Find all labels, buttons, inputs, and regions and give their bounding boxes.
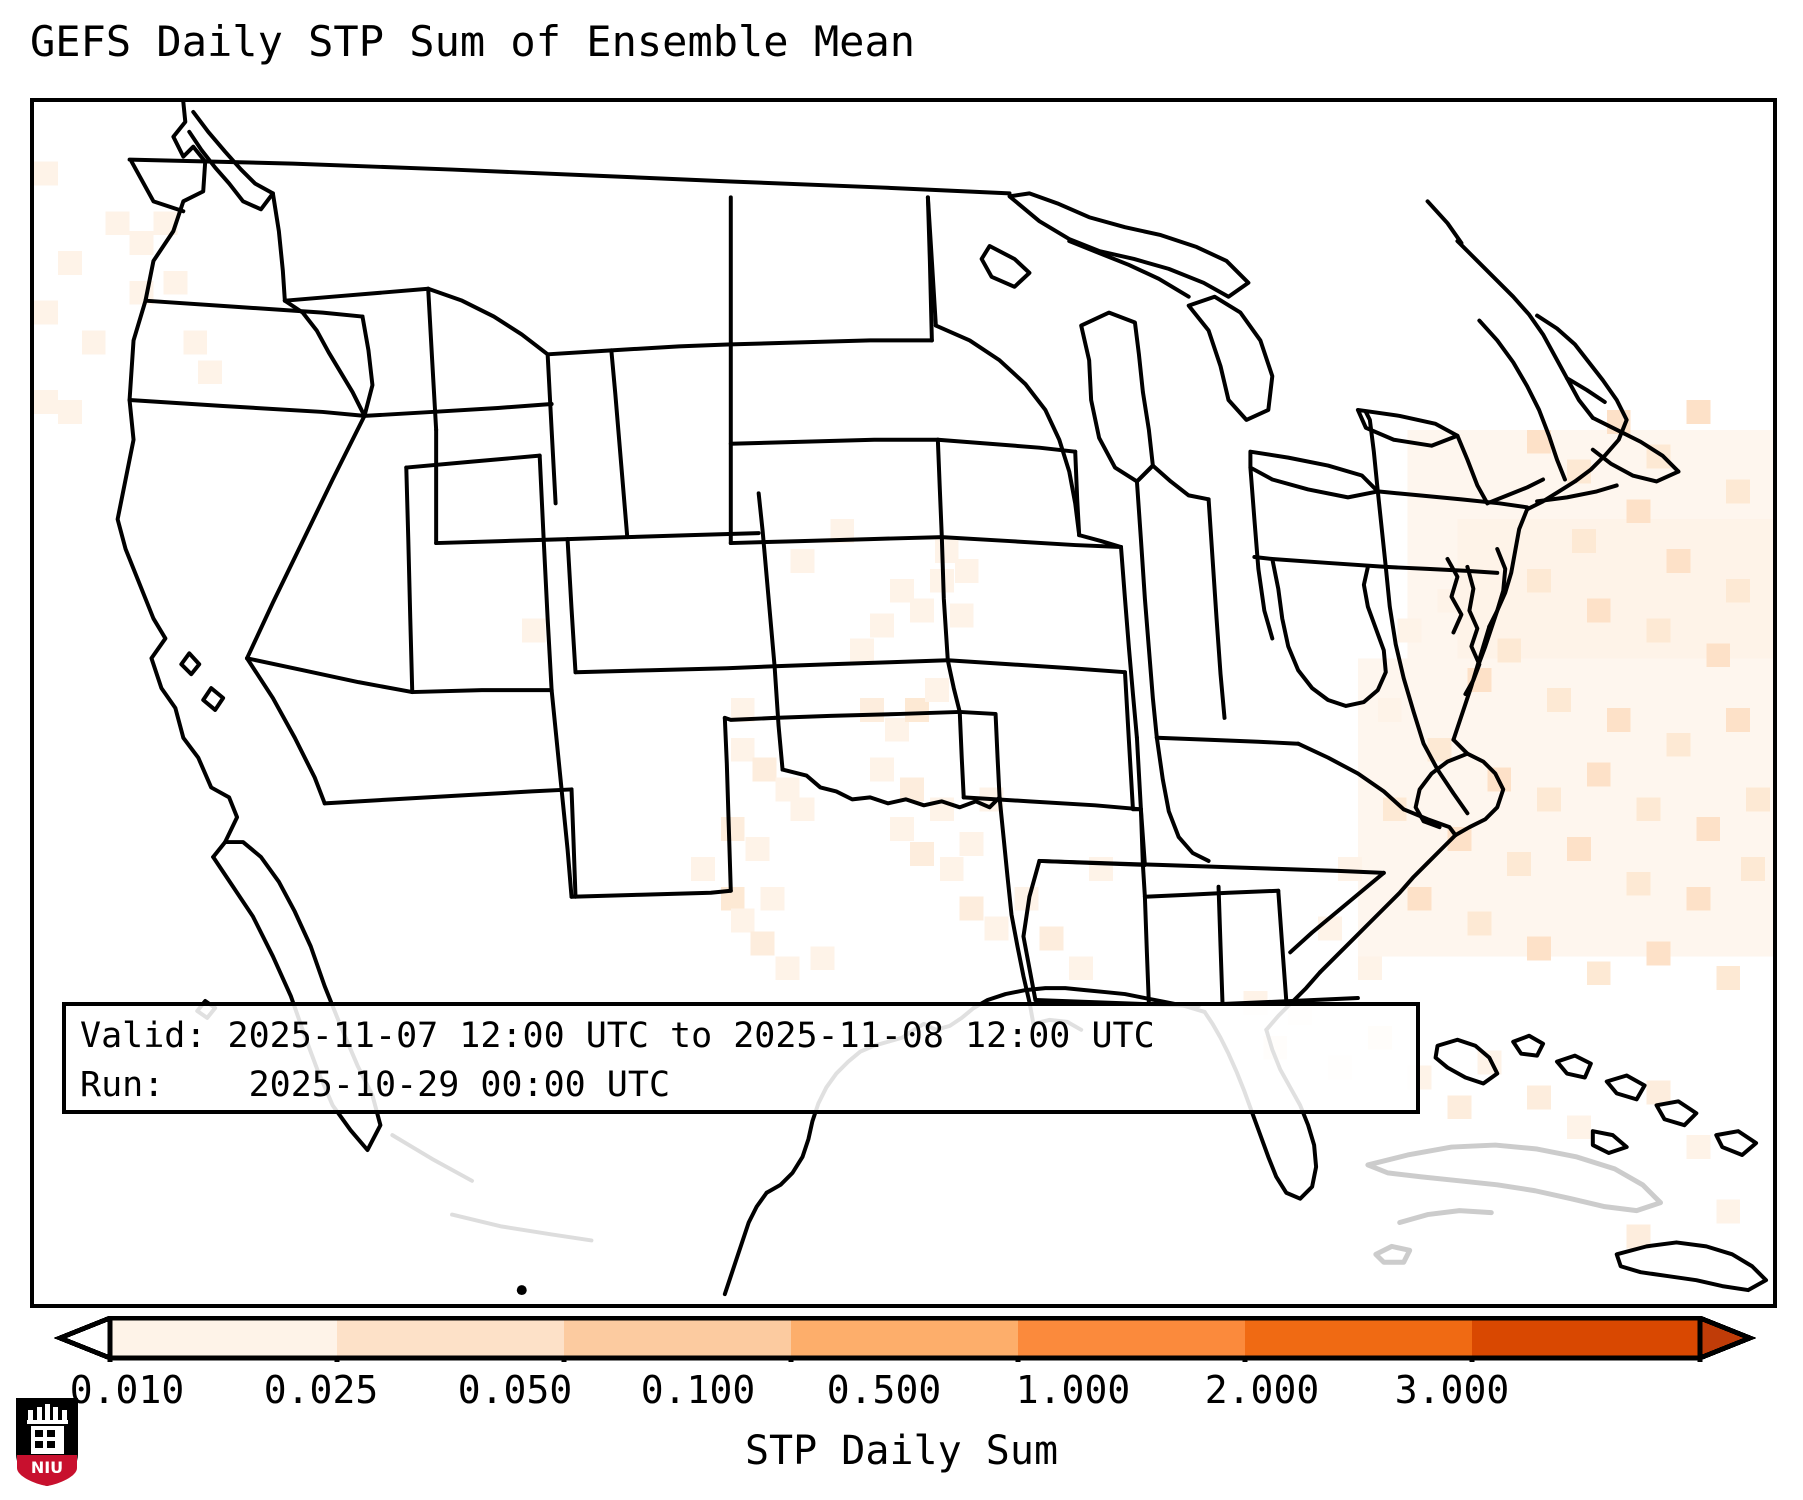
valid-time-line: Valid: 2025-11-07 12:00 UTC to 2025-11-0…: [80, 1012, 1402, 1061]
cbar-tick-1: 0.025: [264, 1368, 378, 1412]
run-time-line: Run: 2025-10-29 00:00 UTC: [80, 1061, 1402, 1110]
cbar-tick-5: 1.000: [1016, 1368, 1130, 1412]
map-canvas: Valid: 2025-11-07 12:00 UTC to 2025-11-0…: [34, 102, 1773, 1304]
cbar-tick-4: 0.500: [827, 1368, 941, 1412]
colorbar-axis-label: STP Daily Sum: [0, 1428, 1803, 1474]
colorbar[interactable]: [30, 1316, 1777, 1362]
page-title: GEFS Daily STP Sum of Ensemble Mean: [30, 17, 915, 66]
map-panel[interactable]: Valid: 2025-11-07 12:00 UTC to 2025-11-0…: [30, 98, 1777, 1308]
island-marker: [517, 1285, 527, 1295]
niu-logo: NIU: [14, 1396, 80, 1488]
colorbar-over-arrow: [1700, 1318, 1750, 1358]
colorbar-under-arrow: [60, 1318, 110, 1358]
cbar-tick-2: 0.050: [458, 1368, 572, 1412]
geography-layer: [34, 102, 1773, 1304]
colorbar-tick-labels: 0.010 0.025 0.050 0.100 0.500 1.000 2.00…: [0, 1368, 1803, 1418]
cbar-tick-3: 0.100: [641, 1368, 755, 1412]
forecast-info-box: Valid: 2025-11-07 12:00 UTC to 2025-11-0…: [62, 1002, 1420, 1114]
colorbar-svg[interactable]: [30, 1316, 1777, 1362]
cbar-tick-7: 3.000: [1395, 1368, 1509, 1412]
niu-logo-text: NIU: [31, 1458, 63, 1477]
cbar-tick-0: 0.010: [70, 1368, 184, 1412]
cbar-tick-6: 2.000: [1205, 1368, 1319, 1412]
